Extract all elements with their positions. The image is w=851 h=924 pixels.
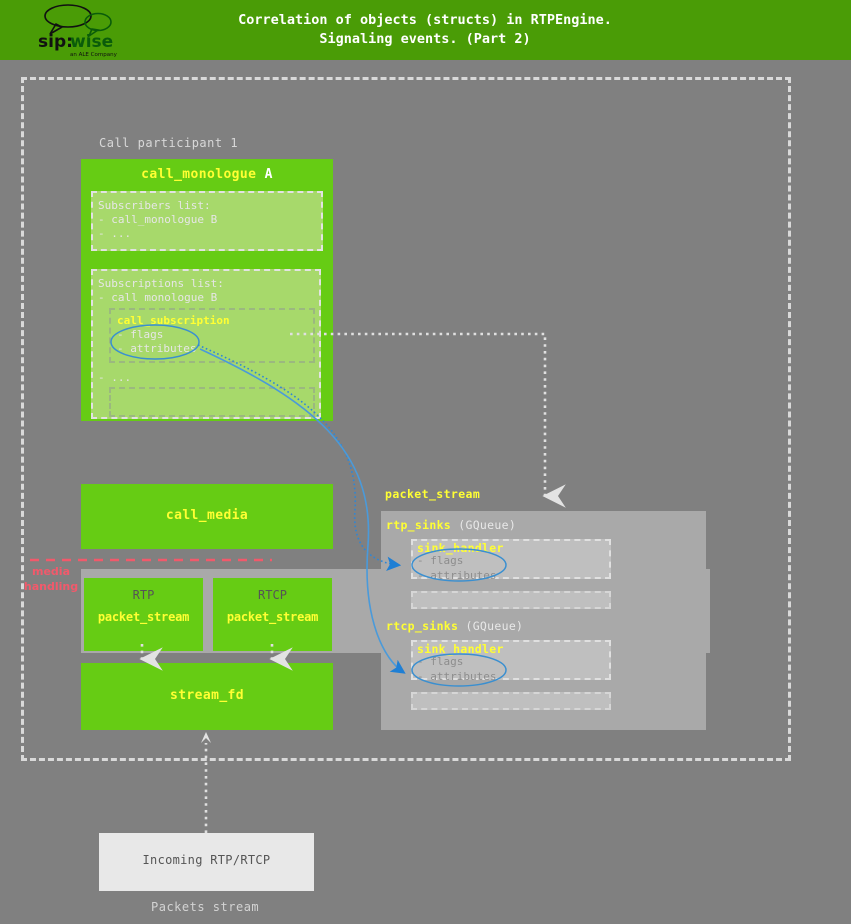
packets-stream-label: Packets stream bbox=[151, 900, 259, 914]
rtp-sink-handler-box: sink_handler - flags - attributes bbox=[411, 539, 611, 579]
stream-fd-label: stream_fd bbox=[81, 688, 333, 703]
stream-fd-box: stream_fd bbox=[81, 663, 333, 730]
rtcp-sinks-label: rtcp_sinks (GQueue) bbox=[386, 619, 523, 633]
call-monologue-box: call_monologue A Subscribers list: - cal… bbox=[81, 159, 333, 421]
rtp-protocol-label: RTP bbox=[84, 588, 203, 602]
rtp-sink-handler-attributes: - attributes bbox=[417, 569, 496, 582]
svg-text:an ALE Company: an ALE Company bbox=[70, 52, 118, 58]
call-monologue-title: call_monologue A bbox=[81, 167, 333, 182]
call-participant-label: Call participant 1 bbox=[99, 136, 238, 150]
svg-text:sip:: sip: bbox=[38, 32, 73, 52]
rtp-packet-stream-box: RTP packet_stream bbox=[84, 578, 203, 651]
media-handling-label: media handling bbox=[22, 564, 80, 594]
call-monologue-suffix: A bbox=[265, 167, 273, 182]
rtp-sink-empty-box bbox=[411, 591, 611, 609]
rtp-sinks-label: rtp_sinks (GQueue) bbox=[386, 518, 516, 532]
rtcp-sink-handler-flags: - flags bbox=[417, 655, 463, 668]
rtp-sink-handler-title: sink_handler bbox=[417, 541, 504, 555]
rtcp-sinks-name: rtcp_sinks bbox=[386, 619, 458, 633]
rtcp-packet-stream-box: RTCP packet_stream bbox=[213, 578, 332, 651]
call-monologue-keyword: call_monologue bbox=[141, 167, 256, 182]
rtcp-protocol-label: RTCP bbox=[213, 588, 332, 602]
rtp-sink-handler-flags: - flags bbox=[417, 554, 463, 567]
subscribers-item-1: - ... bbox=[98, 227, 316, 241]
rtcp-sink-empty-box bbox=[411, 692, 611, 710]
rtcp-packet-stream-label: packet_stream bbox=[213, 610, 332, 624]
rtcp-sink-handler-box: sink_handler - flags - attributes bbox=[411, 640, 611, 680]
subscribers-heading: Subscribers list: bbox=[98, 199, 316, 213]
subscriptions-list-box: Subscriptions list: - call monologue B c… bbox=[91, 269, 321, 419]
call-subscription-attributes: - attributes bbox=[117, 342, 307, 356]
subscriptions-item: - call monologue B bbox=[98, 291, 314, 305]
diagram-root: sip: wise an ALE Company Correlation of … bbox=[0, 0, 851, 924]
packet-stream-panel: rtp_sinks (GQueue) sink_handler - flags … bbox=[381, 511, 706, 730]
subscriptions-tail: - ... bbox=[98, 371, 131, 385]
rtcp-sink-handler-attributes: - attributes bbox=[417, 670, 496, 683]
call-subscription-flags: - flags bbox=[117, 328, 307, 342]
logo-icon: sip: wise an ALE Company bbox=[30, 2, 130, 58]
call-media-label: call_media bbox=[81, 508, 333, 523]
call-media-box: call_media bbox=[81, 484, 333, 549]
rtcp-sink-handler-title: sink_handler bbox=[417, 642, 504, 656]
call-subscription-empty-box bbox=[109, 387, 315, 417]
subscribers-list-box: Subscribers list: - call_monologue B - .… bbox=[91, 191, 323, 251]
rtp-packet-stream-label: packet_stream bbox=[84, 610, 203, 624]
sipwise-logo: sip: wise an ALE Company bbox=[30, 2, 130, 58]
page-header: sip: wise an ALE Company Correlation of … bbox=[0, 0, 851, 60]
rtp-sinks-type: (GQueue) bbox=[458, 518, 516, 532]
subscriptions-heading: Subscriptions list: bbox=[98, 277, 314, 291]
rtcp-sinks-type: (GQueue) bbox=[465, 619, 523, 633]
page-title: Correlation of objects (structs) in RTPE… bbox=[160, 11, 690, 49]
incoming-packets-label: Incoming RTP/RTCP bbox=[99, 853, 314, 867]
incoming-packets-box: Incoming RTP/RTCP bbox=[99, 833, 314, 891]
subscribers-item-0: - call_monologue B bbox=[98, 213, 316, 227]
call-subscription-title: call_subscription bbox=[117, 314, 307, 328]
rtp-sinks-name: rtp_sinks bbox=[386, 518, 451, 532]
call-subscription-box: call_subscription - flags - attributes bbox=[109, 308, 315, 363]
packet-stream-title: packet_stream bbox=[385, 487, 480, 501]
svg-text:wise: wise bbox=[70, 32, 113, 52]
